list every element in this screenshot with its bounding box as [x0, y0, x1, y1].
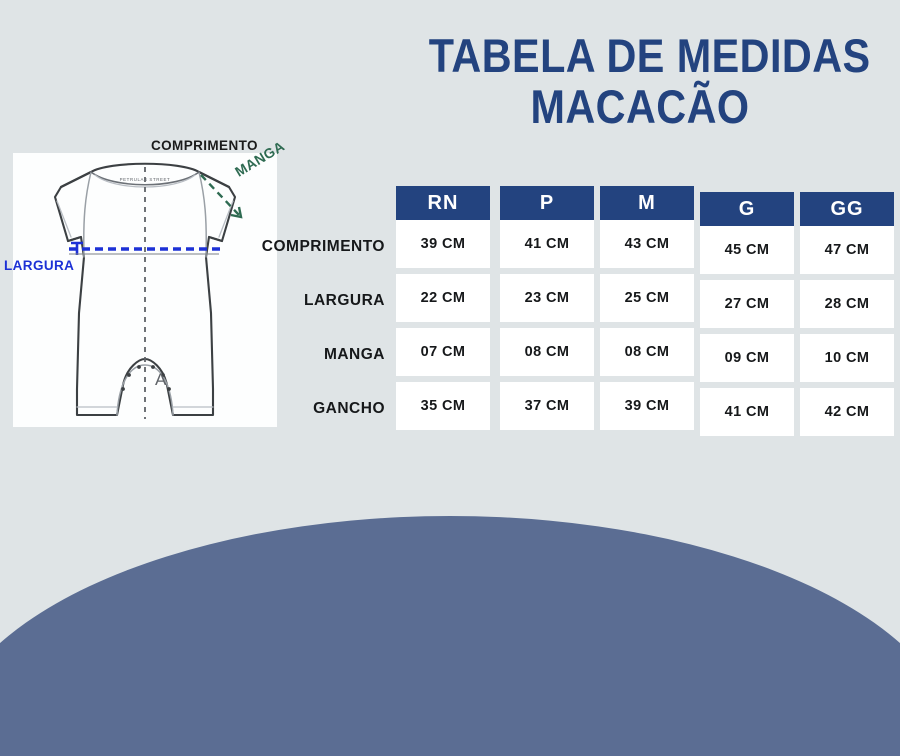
- cell-gancho-g: 41 CM: [700, 388, 794, 436]
- cell-comprimento-gg: 47 CM: [800, 226, 894, 274]
- cell-manga-m: 08 CM: [600, 328, 694, 376]
- comprimento-axis-marker: A: [155, 370, 167, 389]
- measurements-table: RN P M G GG COMPRIMENTO 39 CM 41 CM 43 C…: [240, 186, 900, 436]
- cell-largura-rn: 22 CM: [396, 274, 490, 322]
- cell-largura-p: 23 CM: [500, 274, 594, 322]
- cell-comprimento-p: 41 CM: [500, 220, 594, 268]
- cell-comprimento-m: 43 CM: [600, 220, 694, 268]
- table-row: 42 CM: [800, 388, 900, 442]
- table-header-cell-p: P: [500, 186, 600, 220]
- cell-comprimento-rn: 39 CM: [396, 220, 490, 268]
- table-row: 35 CM: [396, 382, 500, 436]
- table-row: 45 CM: [700, 226, 800, 280]
- diagram-label-largura: LARGURA: [4, 258, 74, 273]
- table-row-label-manga: MANGA: [240, 328, 396, 382]
- table-header-cell-g: G: [700, 192, 800, 226]
- cell-largura-g: 27 CM: [700, 280, 794, 328]
- cell-gancho-p: 37 CM: [500, 382, 594, 430]
- table-row: 43 CM: [600, 220, 700, 274]
- table-row: 28 CM: [800, 280, 900, 334]
- page-title-line-1: TABELA DE MEDIDAS: [429, 30, 851, 81]
- table-header-cell-m: M: [600, 186, 700, 220]
- cell-largura-gg: 28 CM: [800, 280, 894, 328]
- table-row-label-largura: LARGURA: [240, 274, 396, 328]
- cell-gancho-m: 39 CM: [600, 382, 694, 430]
- bottom-decorative-shape: [0, 516, 900, 756]
- table-row: 39 CM: [600, 382, 700, 436]
- cell-manga-rn: 07 CM: [396, 328, 490, 376]
- table-row: 41 CM: [500, 220, 600, 274]
- cell-gancho-gg: 42 CM: [800, 388, 894, 436]
- table-row: 10 CM: [800, 334, 900, 388]
- table-row: 07 CM: [396, 328, 500, 382]
- table-row: 09 CM: [700, 334, 800, 388]
- header-label-gg: GG: [800, 192, 894, 226]
- table-corner-cell: [240, 186, 396, 220]
- table-header-cell-gg: GG: [800, 192, 900, 226]
- table-row: 39 CM: [396, 220, 500, 274]
- romper-illustration-icon: PETRULAS STREET A: [13, 153, 277, 427]
- page-title-line-2: MACACÃO: [429, 81, 851, 132]
- table-row-label-gancho: GANCHO: [240, 382, 396, 436]
- table-row: 27 CM: [700, 280, 800, 334]
- table-row: 25 CM: [600, 274, 700, 328]
- page-title: TABELA DE MEDIDAS MACACÃO: [400, 30, 880, 132]
- garment-diagram-panel: PETRULAS STREET A: [13, 153, 277, 427]
- table-header-cell-rn: RN: [396, 186, 500, 220]
- table-row: 22 CM: [396, 274, 500, 328]
- table-row: 08 CM: [600, 328, 700, 382]
- header-label-g: G: [700, 192, 794, 226]
- diagram-label-comprimento: COMPRIMENTO: [151, 138, 258, 153]
- cell-largura-m: 25 CM: [600, 274, 694, 322]
- cell-manga-gg: 10 CM: [800, 334, 894, 382]
- cell-comprimento-g: 45 CM: [700, 226, 794, 274]
- cell-gancho-rn: 35 CM: [396, 382, 490, 430]
- table-grid: RN P M G GG COMPRIMENTO 39 CM 41 CM 43 C…: [240, 186, 900, 436]
- cell-manga-p: 08 CM: [500, 328, 594, 376]
- table-row: 41 CM: [700, 388, 800, 442]
- table-row: 47 CM: [800, 226, 900, 280]
- table-row-label-comprimento: COMPRIMENTO: [240, 220, 396, 274]
- header-label-rn: RN: [396, 186, 490, 220]
- table-row: 23 CM: [500, 274, 600, 328]
- header-label-p: P: [500, 186, 594, 220]
- table-row: 08 CM: [500, 328, 600, 382]
- header-label-m: M: [600, 186, 694, 220]
- table-row: 37 CM: [500, 382, 600, 436]
- cell-manga-g: 09 CM: [700, 334, 794, 382]
